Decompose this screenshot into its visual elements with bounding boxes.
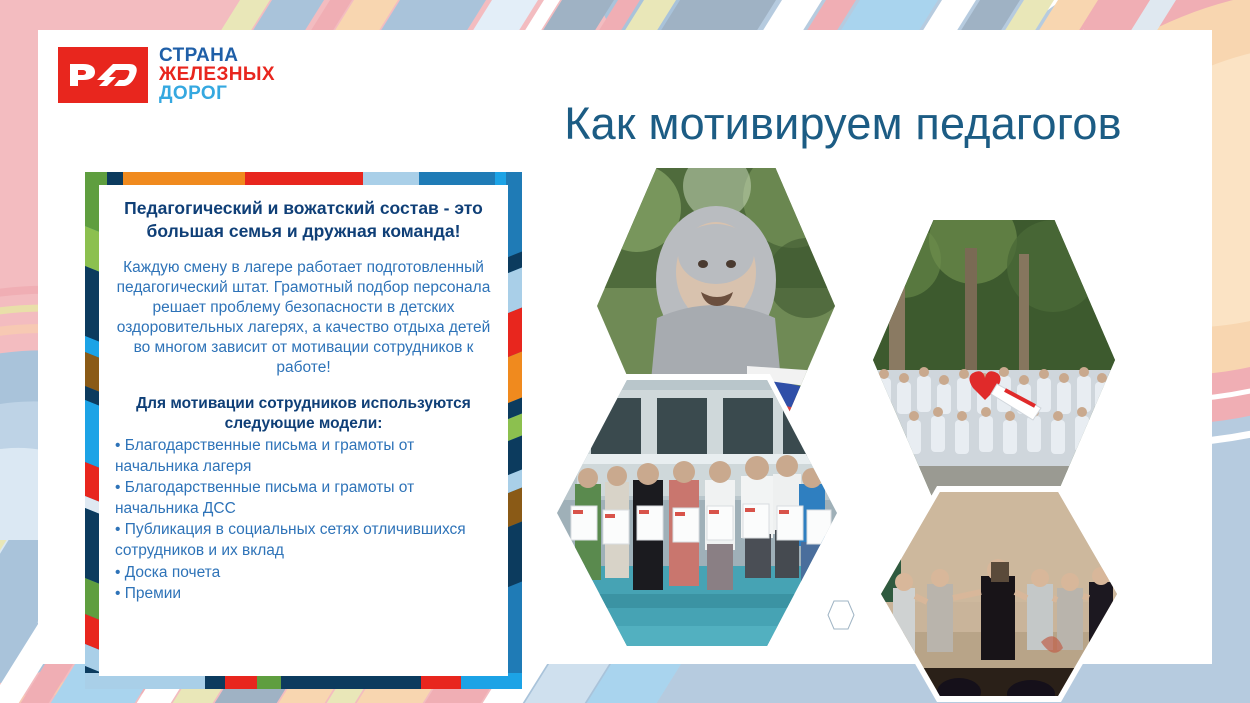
list-item: Публикация в социальных сетях отличивших… (115, 520, 492, 561)
info-panel-content: Педагогический и вожатский состав - это … (99, 185, 508, 676)
hexagon-outline-decoration (827, 600, 855, 630)
panel-subheading: Для мотивации сотрудников используются с… (115, 394, 492, 434)
photo-collage (543, 162, 1143, 702)
logo-line-2: ЖЕЛЕЗНЫХ (159, 65, 275, 84)
slide-content-card: СТРАНА ЖЕЛЕЗНЫХ ДОРОГ Как мотивируем пед… (38, 30, 1212, 664)
panel-heading: Педагогический и вожатский состав - это … (115, 197, 492, 244)
rzd-brand-logo: СТРАНА ЖЕЛЕЗНЫХ ДОРОГ (58, 46, 275, 103)
panel-paragraph: Каждую смену в лагере работает подготовл… (115, 258, 492, 379)
presentation-slide: СТРАНА ЖЕЛЕЗНЫХ ДОРОГ Как мотивируем пед… (0, 0, 1250, 703)
photo-certificate-ceremony (557, 380, 837, 646)
logo-line-1: СТРАНА (159, 46, 275, 65)
list-item: Доска почета (115, 563, 492, 584)
photo-camp-group (873, 220, 1115, 500)
list-item: Благодарственные письма и грамоты от нач… (115, 436, 492, 477)
list-item: Премии (115, 584, 492, 605)
motivation-models-list: Благодарственные письма и грамоты от нач… (115, 436, 492, 605)
info-panel: Педагогический и вожатский состав - это … (85, 172, 522, 689)
list-item: Благодарственные письма и грамоты от нач… (115, 478, 492, 519)
rzd-logo-mark-icon (58, 47, 148, 103)
logo-line-3: ДОРОГ (159, 84, 275, 103)
slide-title: Как мотивируем педагогов (508, 98, 1178, 150)
